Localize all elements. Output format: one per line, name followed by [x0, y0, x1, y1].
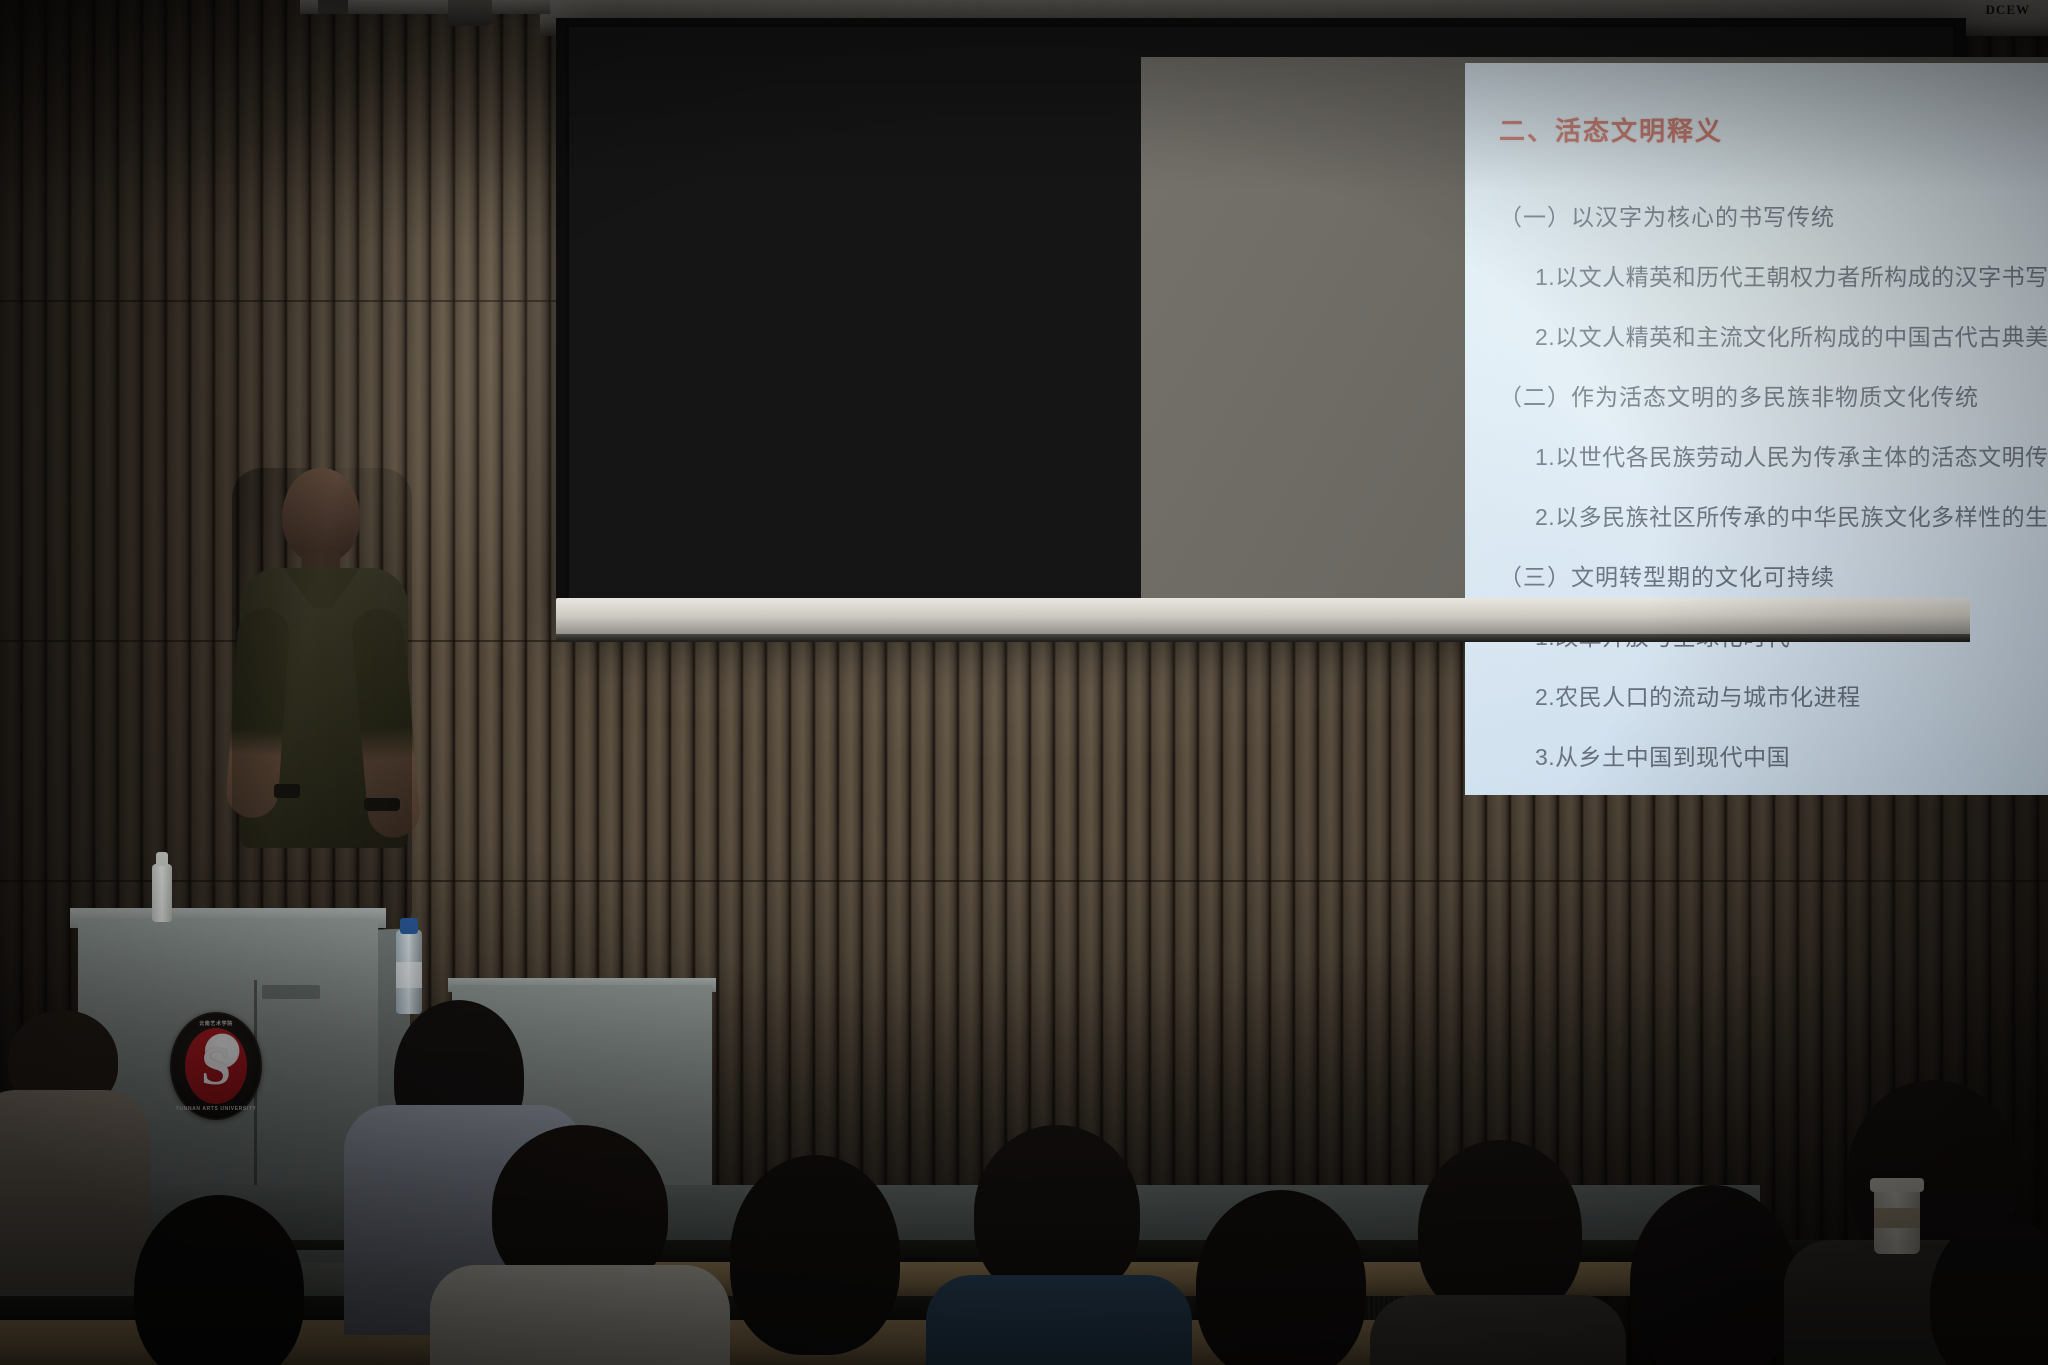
audience-head [1630, 1185, 1796, 1365]
university-emblem: S 云南艺术学院 YUNNAN ARTS UNIVERSITY [170, 1012, 262, 1120]
coffee-cup-lid [1870, 1178, 1924, 1192]
water-bottle-cap [400, 918, 418, 934]
slide-content: 二、活态文明释义 （一）以汉字为核心的书写传统 1.以文人精英和历代王朝权力者所… [1465, 63, 2048, 795]
audience-member [1160, 1190, 1400, 1365]
audience-torso [430, 1265, 730, 1365]
slide-item-3-2: 2.农民人口的流动与城市化进程 [1535, 678, 2048, 712]
audience-member [104, 1195, 334, 1365]
coffee-cup-sleeve [1874, 1208, 1920, 1228]
ceiling-vent-icon [318, 0, 348, 14]
podium-slot [262, 985, 320, 999]
audience-member [1370, 1140, 1620, 1365]
presentation-slide: 二、活态文明释义 （一）以汉字为核心的书写传统 1.以文人精英和历代王朝权力者所… [1465, 63, 2048, 795]
hand-sanitizer-bottle [152, 864, 172, 922]
projection-screen-frame: 二、活态文明释义 （一）以汉字为核心的书写传统 1.以文人精英和历代王朝权力者所… [566, 24, 1956, 614]
slide-heading-3: （三）文明转型期的文化可持续 [1499, 558, 2048, 592]
slide-item-1-1: 1.以文人精英和历代王朝权力者所构成的汉字书写为核心的文明传统 [1535, 258, 2048, 292]
slide-item-3-3: 3.从乡土中国到现代中国 [1535, 738, 2048, 772]
presenter-shading [232, 468, 412, 938]
screen-bottom-casing [556, 598, 1970, 636]
audience-head [974, 1125, 1140, 1300]
audience-torso [1370, 1295, 1626, 1365]
slide-heading-1: （一）以汉字为核心的书写传统 [1499, 198, 2048, 232]
slide-title: 二、活态文明释义 [1499, 111, 2048, 148]
audience-member [930, 1125, 1180, 1365]
presenter [232, 468, 412, 938]
audience-member [1930, 1215, 2048, 1365]
slide-heading-2: （二）作为活态文明的多民族非物质文化传统 [1499, 378, 2048, 412]
lecture-hall-photo: DCEW 二、活态文明释义 （一）以汉字为核心的书写传统 1.以文人精英和历代王… [0, 0, 2048, 1365]
audience-torso [926, 1275, 1192, 1365]
emblem-bottom-text: YUNNAN ARTS UNIVERSITY [172, 1106, 260, 1112]
audience-head [1418, 1140, 1582, 1320]
emblem-top-text: 云南艺术学院 [172, 1020, 260, 1027]
audience-head [1196, 1190, 1366, 1365]
emblem-disc: S [185, 1028, 247, 1104]
audience-member [440, 1125, 710, 1365]
ceiling-vent-icon [448, 0, 492, 26]
ceiling-label: DCEW [1986, 2, 2030, 18]
audience-member [690, 1155, 940, 1365]
water-bottle-label [396, 962, 422, 988]
audience-head [1930, 1215, 2048, 1365]
audience-head [730, 1155, 900, 1355]
slide-item-1-2: 2.以文人精英和主流文化所构成的中国古代古典美学传统 [1535, 318, 2048, 352]
emblem-letter: S [201, 1039, 231, 1093]
slide-item-2-1: 1.以世代各民族劳动人民为传承主体的活态文明传统 [1535, 438, 2048, 472]
slide-item-2-2: 2.以多民族社区所传承的中华民族文化多样性的生存美学传统 [1535, 498, 2048, 532]
audience-head [134, 1195, 304, 1365]
